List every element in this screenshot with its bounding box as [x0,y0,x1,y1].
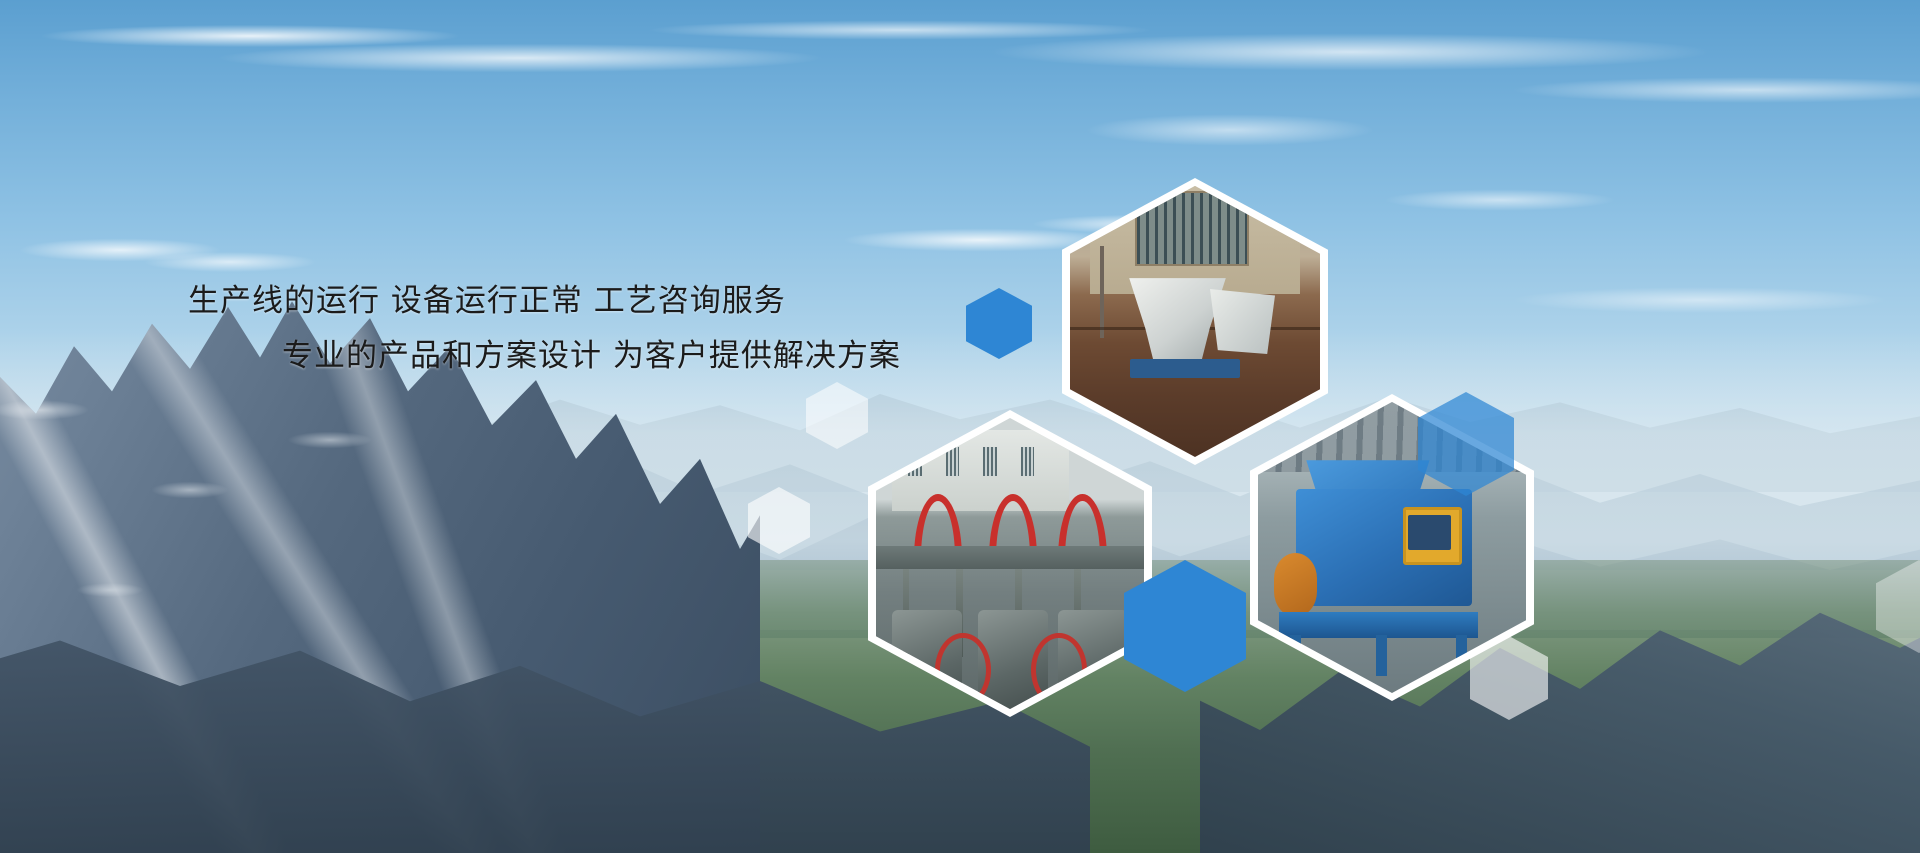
hexagon-white-bottom-right [1470,636,1548,720]
hexagon-white-far-right [1876,560,1920,653]
hexagon-blue-right-upper-shape [1418,392,1514,496]
hexagon-blue-bottom-center-shape [1124,560,1246,692]
hexagon-white-far-right-shape [1876,560,1920,653]
hexagon-blue-right-upper [1418,392,1514,496]
hexagon-white-bottom-right-shape [1470,636,1548,720]
decorative-hexagon-front-layer [0,0,1920,853]
hero-banner: 生产线的运行 设备运行正常 工艺咨询服务 专业的产品和方案设计 为客户提供解决方… [0,0,1920,853]
hexagon-blue-bottom-center [1124,560,1246,692]
